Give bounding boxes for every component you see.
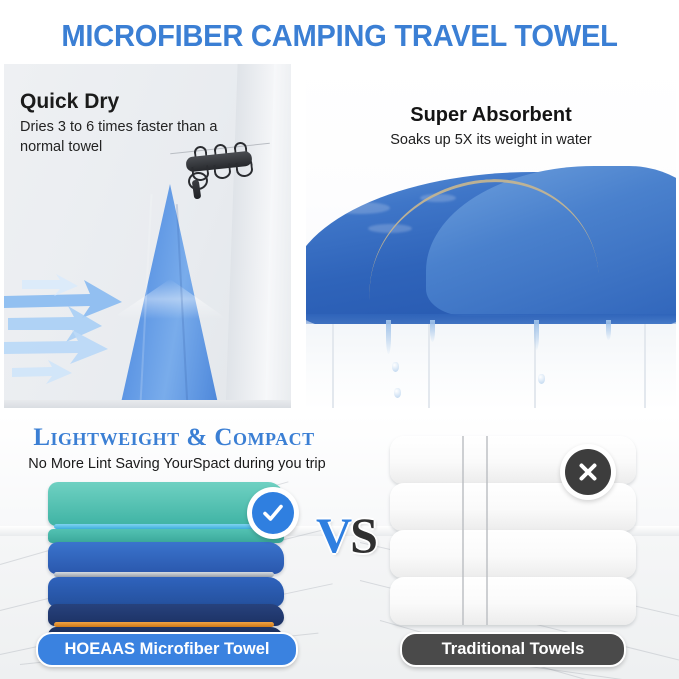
wall-hook-rack-icon (176, 142, 262, 188)
page-title: MICROFIBER CAMPING TRAVEL TOWEL (20, 18, 658, 54)
tile-seam-2 (428, 324, 430, 408)
check-glyph (260, 500, 286, 526)
water-droplet-2 (394, 388, 401, 398)
traditional-towel-stack (390, 436, 640, 636)
water-drip-2 (430, 320, 435, 342)
water-droplet-3 (538, 374, 545, 384)
cross-glyph (575, 459, 601, 485)
towel-layer-royal-blue (48, 542, 284, 574)
towel-layer-blue (48, 577, 284, 607)
hook-hook-2 (213, 163, 231, 180)
super-absorbent-subtext: Soaks up 5X its weight in water (306, 132, 676, 148)
check-mark-icon (247, 487, 299, 539)
panel-quick-dry: Quick Dry Dries 3 to 6 times faster than… (4, 64, 291, 400)
product-infographic: MICROFIBER CAMPING TRAVEL TOWEL Quick Dr… (0, 0, 679, 679)
airflow-arrows-icon (4, 272, 194, 392)
versus-badge: VS (316, 506, 390, 572)
super-absorbent-heading: Super Absorbent (306, 104, 676, 127)
absorbent-base-surface (306, 324, 676, 408)
cross-mark-icon (560, 444, 616, 500)
label-traditional-towels: Traditional Towels (400, 632, 626, 667)
panel-divider (4, 400, 291, 408)
check-circle (252, 492, 294, 534)
quick-dry-heading: Quick Dry (20, 90, 119, 114)
water-drip-3 (534, 320, 539, 350)
cross-circle (565, 449, 611, 495)
versus-v: V (316, 507, 350, 563)
lightweight-heading: Lightweight & Compact (24, 424, 324, 452)
white-towel-3 (390, 530, 636, 578)
versus-s: S (350, 507, 376, 563)
water-drip-4 (606, 320, 611, 340)
panel-lightweight-compact: Lightweight & Compact No More Lint Savin… (0, 414, 679, 679)
white-towel-4 (390, 577, 636, 625)
hook-hook-3 (235, 161, 253, 178)
label-hoeaas-microfiber-towel: HOEAAS Microfiber Towel (36, 632, 298, 667)
water-drip-1 (386, 320, 391, 354)
tile-seam-1 (332, 324, 334, 408)
lightweight-subtext: No More Lint Saving YourSpact during you… (12, 456, 342, 472)
towel-layer-teal-lower (48, 529, 284, 543)
panel-super-absorbent: Super Absorbent Soaks up 5X its weight i… (306, 62, 676, 408)
tile-seam-4 (644, 324, 646, 408)
water-droplet-1 (392, 362, 399, 372)
